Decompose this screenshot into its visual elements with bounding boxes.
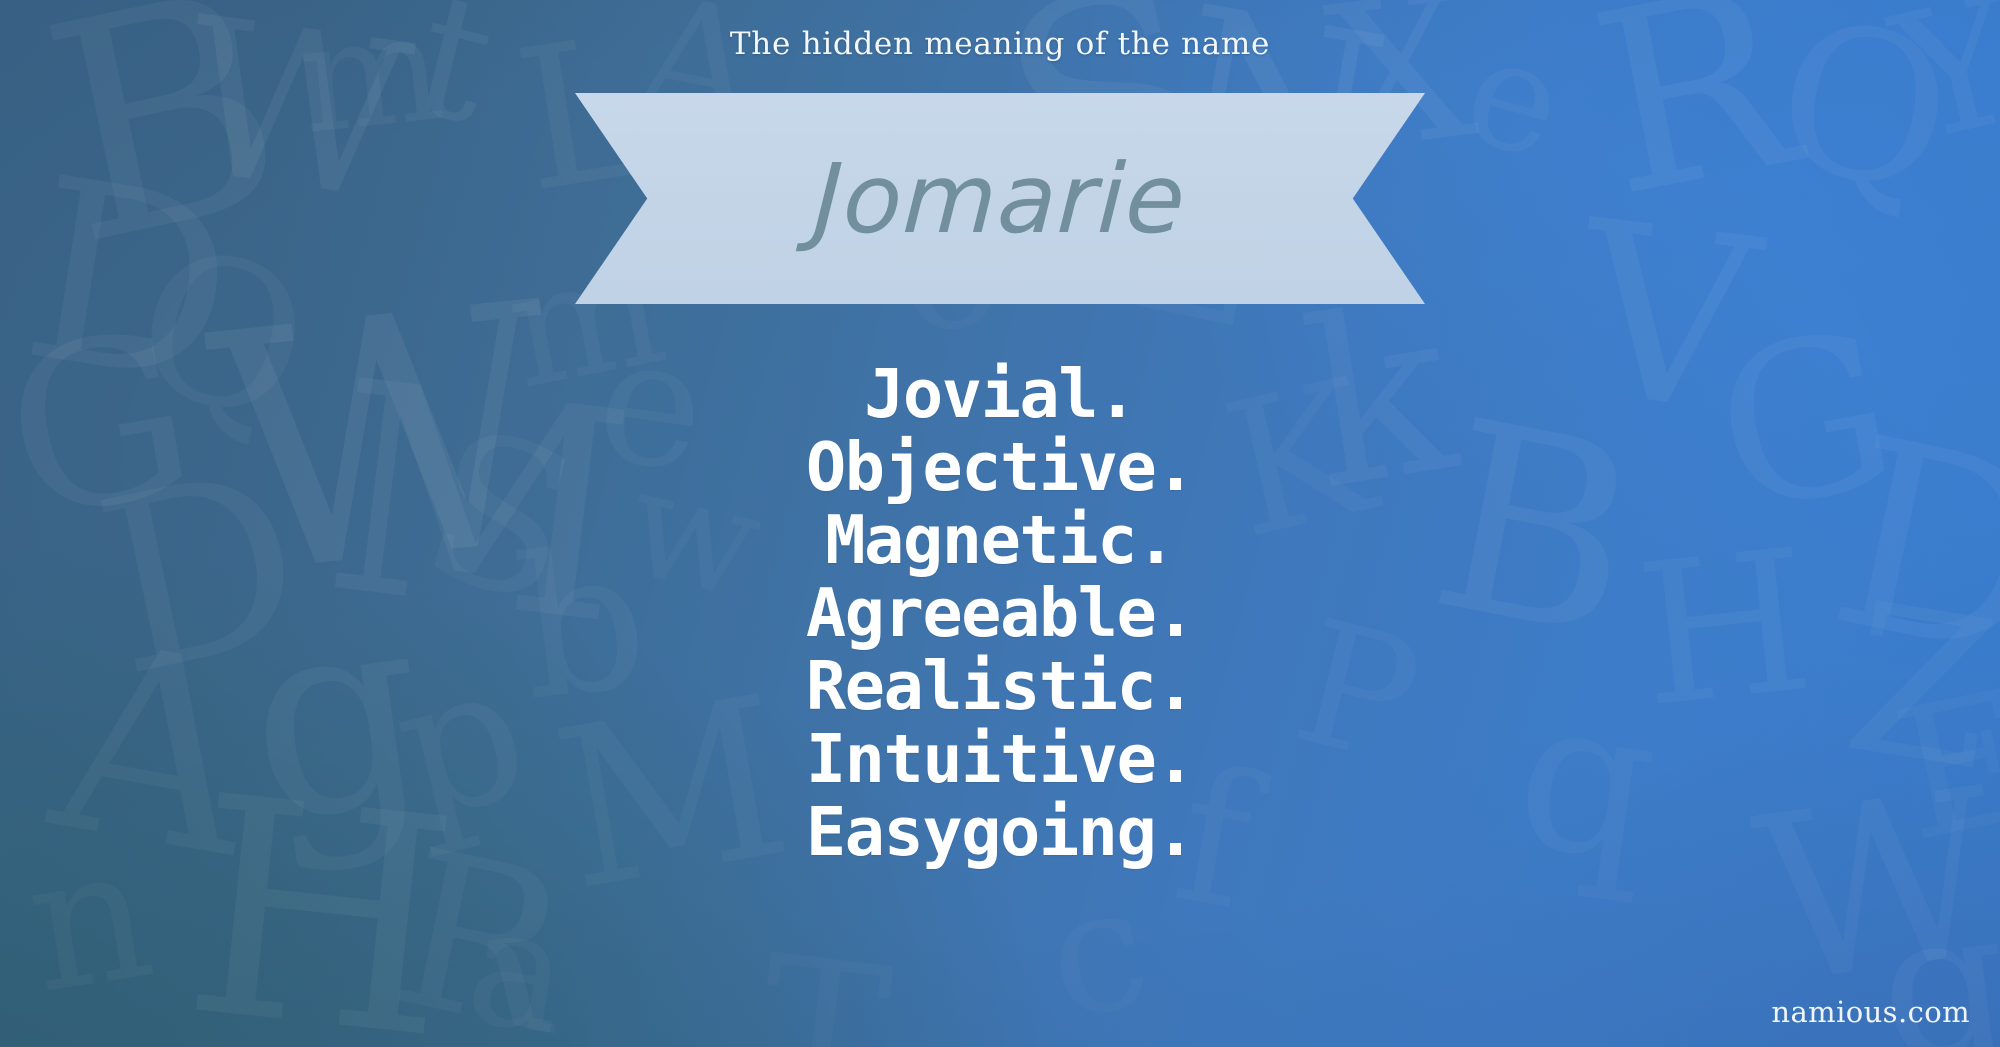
- trait-line: Jovial.: [0, 358, 2000, 431]
- name-ribbon: Jomarie: [575, 93, 1425, 304]
- trait-line: Agreeable.: [0, 577, 2000, 650]
- name-text: Jomarie: [569, 93, 1430, 304]
- trait-line: Objective.: [0, 431, 2000, 504]
- trait-line: Magnetic.: [0, 504, 2000, 577]
- site-watermark: namious.com: [1771, 995, 1970, 1029]
- trait-line: Intuitive.: [0, 723, 2000, 796]
- page-title: The hidden meaning of the name: [0, 26, 2000, 62]
- name-meaning-card: BWmtLASNXeRQYDGQWMDSgApHnRmebwMakBKVGDHZ…: [0, 0, 2000, 1047]
- trait-line: Easygoing.: [0, 796, 2000, 869]
- trait-list: Jovial.Objective.Magnetic.Agreeable.Real…: [0, 358, 2000, 869]
- trait-line: Realistic.: [0, 650, 2000, 723]
